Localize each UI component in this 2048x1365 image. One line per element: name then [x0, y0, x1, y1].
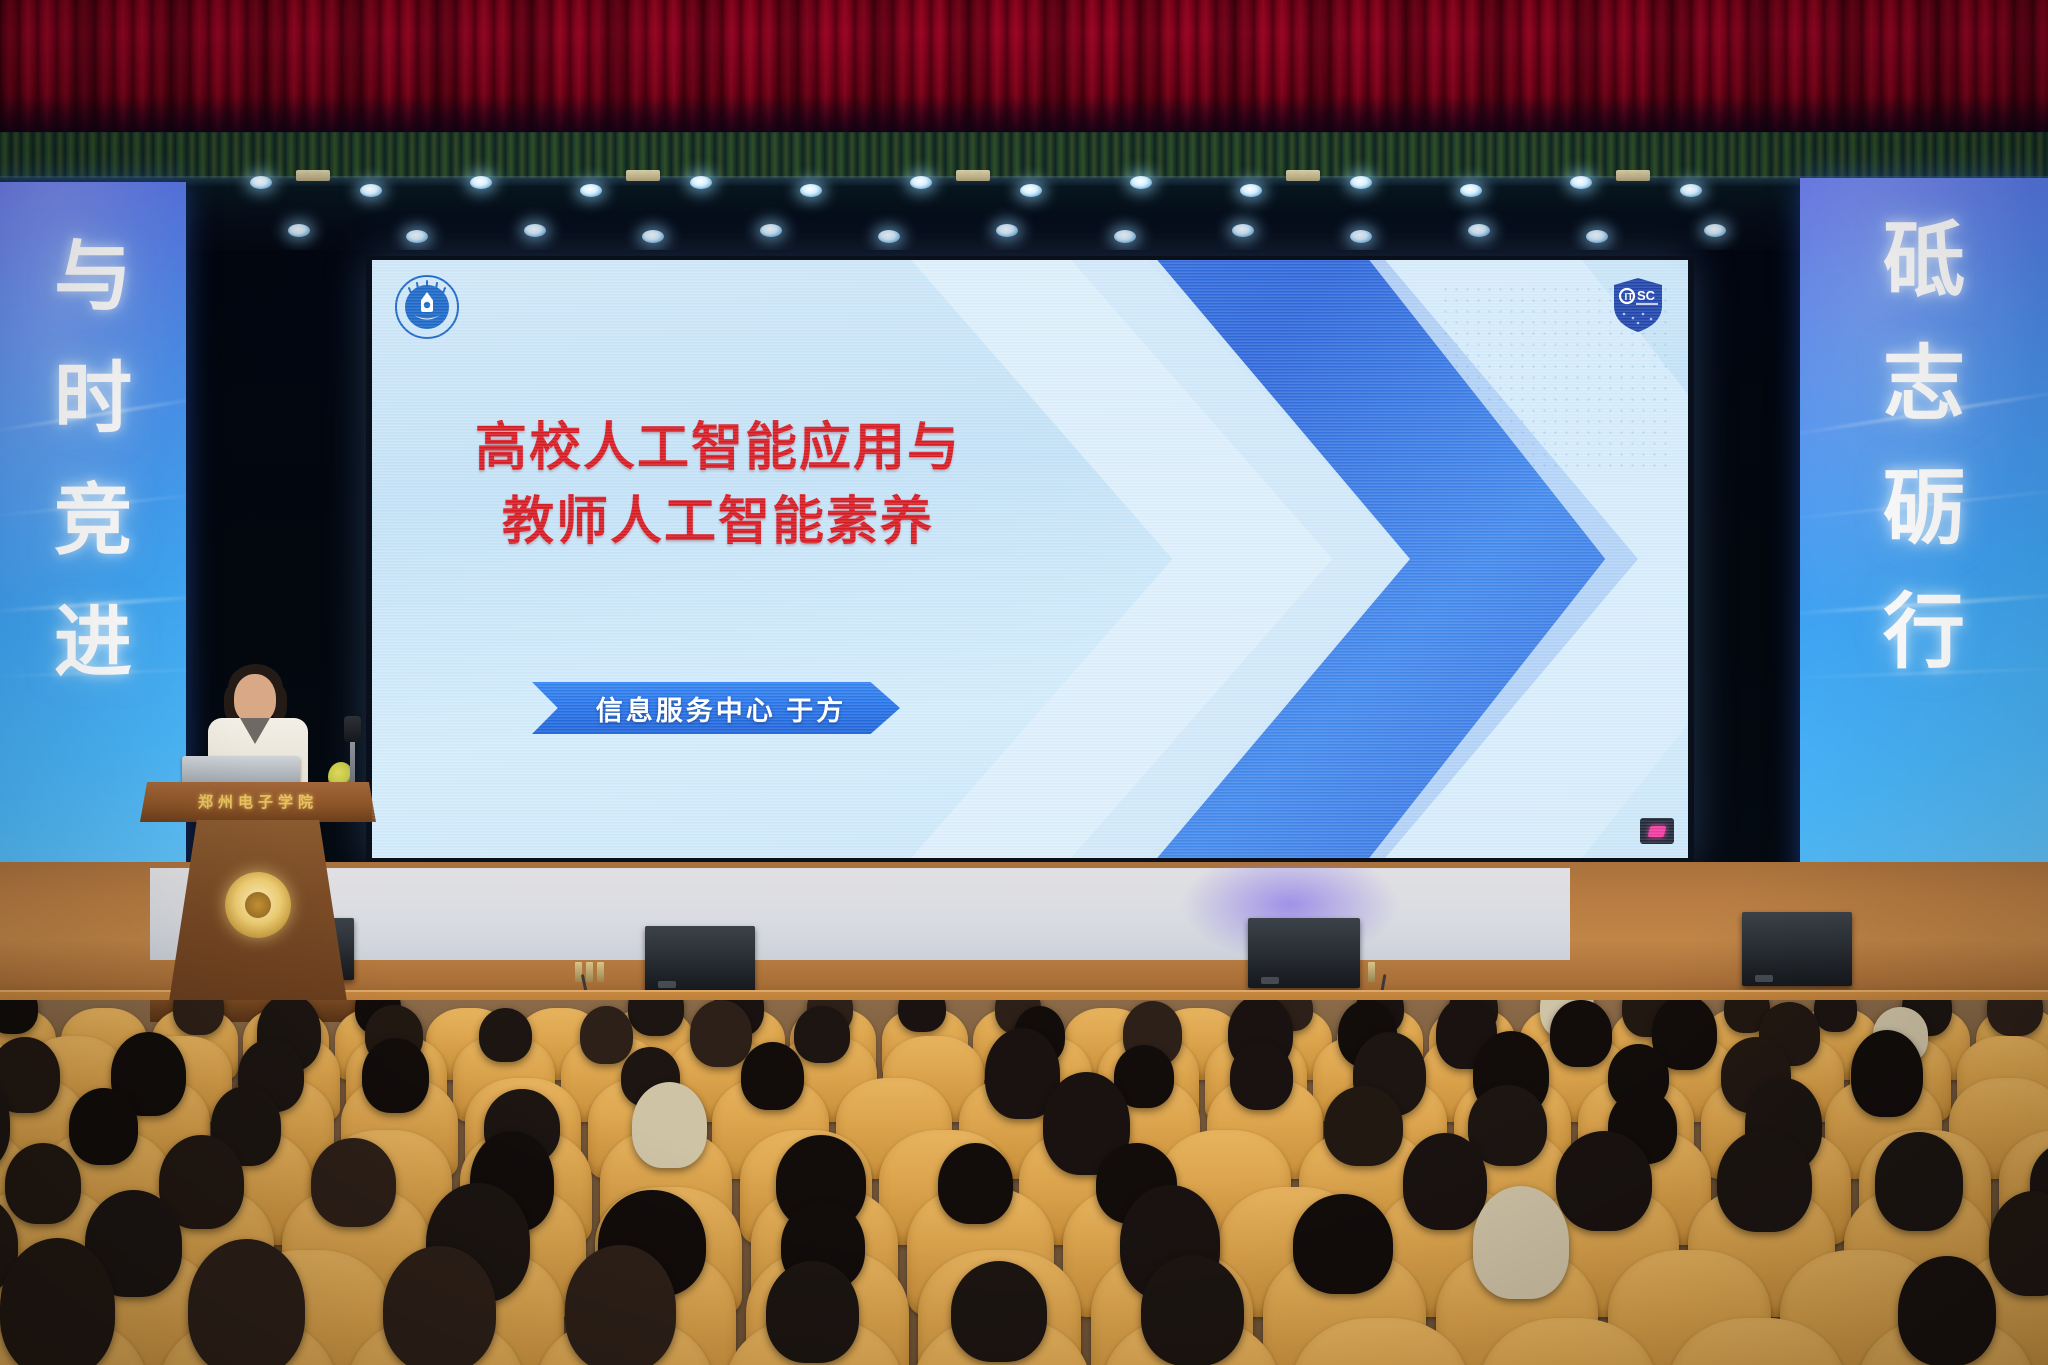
audience-seating-area [0, 1000, 2048, 1365]
stage-lamp-icon [1586, 230, 1608, 243]
slide-presenter-banner: 信息服务中心 于方 [532, 682, 900, 734]
slide-presenter-text: 信息服务中心 于方 [586, 689, 847, 728]
stage-lamp-icon [878, 230, 900, 243]
led-left-char-2: 时 [54, 360, 132, 438]
audience-member [1851, 1030, 1923, 1117]
university-seal-icon [394, 274, 460, 340]
audience-member [1403, 1133, 1487, 1230]
stage-lamp-icon [642, 230, 664, 243]
led-right-char-3: 砺 [1883, 468, 1965, 550]
stage-lamp-icon [1232, 224, 1254, 237]
floor-microphone-cluster [1368, 962, 1375, 982]
lamp-housing [1286, 170, 1320, 181]
audience-member [1814, 1000, 1857, 1032]
stage-lamp-icon [1460, 184, 1482, 197]
audience-member [311, 1138, 396, 1227]
audience-member [1717, 1130, 1811, 1233]
stage-lamp-icon [288, 224, 310, 237]
itsc-shield-icon: IT SC [1612, 276, 1664, 334]
led-left-char-4: 进 [54, 604, 132, 682]
stage-lamp-icon [1240, 184, 1262, 197]
svg-text:IT: IT [1625, 292, 1634, 303]
presenter-laptop [182, 756, 300, 786]
audience-member [1898, 1256, 1996, 1365]
lamp-housing [296, 170, 330, 181]
stage-lamp-icon [1350, 176, 1372, 189]
lectern-group: 郑州电子学院 [140, 700, 400, 1030]
audience-member [1875, 1132, 1962, 1230]
stage-lamp-icon [1680, 184, 1702, 197]
lamp-housing [1616, 170, 1650, 181]
audience-member [0, 1238, 115, 1365]
stage-lamp-icon [470, 176, 492, 189]
pink-watermark-icon [1640, 818, 1674, 844]
audience-member [1141, 1255, 1244, 1365]
slide-title-line-1: 高校人工智能应用与 [428, 412, 1008, 486]
stage-lamp-icon [1350, 230, 1372, 243]
audience-member-with-cap [632, 1082, 707, 1168]
stage-monitor-speaker [1742, 912, 1852, 986]
stage-lamp-icon [250, 176, 272, 189]
audience-member [1989, 1191, 2048, 1296]
stage-lamp-icon [1468, 224, 1490, 237]
svg-text:SC: SC [1637, 288, 1656, 303]
floor-microphone-cluster [575, 962, 604, 982]
stage-lamp-icon [406, 230, 428, 243]
stage-lamp-icon [1020, 184, 1042, 197]
lectern-gold-text: 郑州电子学院 [140, 791, 376, 812]
audience-member-with-cap [1473, 1186, 1570, 1299]
audience-member [188, 1239, 305, 1365]
led-left-char-3: 竞 [54, 482, 132, 560]
audience-member [1324, 1086, 1403, 1166]
audience-member [69, 1088, 138, 1165]
led-left-char-1: 与 [54, 238, 132, 316]
stage-monitor-speaker [645, 926, 755, 992]
audience-member [565, 1245, 675, 1365]
stage-lamp-icon [1114, 230, 1136, 243]
auditorium-scene: 与 时 竞 进 砥 志 砺 行 [0, 0, 2048, 1365]
lectern-top: 郑州电子学院 [140, 782, 376, 822]
lectern-emblem-icon [225, 872, 291, 938]
stage-lamp-icon [1130, 176, 1152, 189]
presenter-head [234, 674, 276, 724]
led-panel-right: 砥 志 砺 行 [1800, 178, 2048, 884]
audience-member [690, 1000, 753, 1067]
audience-member [794, 1006, 850, 1063]
slide-title-line-2: 教师人工智能素养 [428, 486, 1008, 560]
audience-member [479, 1008, 532, 1063]
audience-member [951, 1261, 1047, 1362]
lamp-housing [626, 170, 660, 181]
lamp-housing [956, 170, 990, 181]
presentation-slide: IT SC 高校人工智能应用与 教师人工智能素养 信息服务中心 于方 [372, 260, 1688, 858]
stage-lamp-icon [1570, 176, 1592, 189]
stage-lamp-icon [760, 224, 782, 237]
stage-lamp-icon [360, 184, 382, 197]
stage-monitor-speaker [1248, 918, 1360, 988]
audience-member [383, 1246, 495, 1365]
audience-member [0, 1037, 60, 1113]
stage-curtain [0, 0, 2048, 150]
led-right-char-4: 行 [1883, 592, 1965, 674]
audience-member [1550, 1000, 1611, 1067]
stage-lamp-icon [800, 184, 822, 197]
lectern-body [168, 820, 348, 1008]
audience-member [580, 1006, 632, 1064]
stage-lamp-icon [1704, 224, 1726, 237]
microphone-icon [344, 716, 361, 742]
stage-lighting-rig [0, 132, 2048, 260]
stage-lamp-icon [524, 224, 546, 237]
led-panel-right-text: 砥 志 砺 行 [1800, 220, 2048, 674]
led-right-char-1: 砥 [1883, 220, 1965, 302]
audience-member [1293, 1194, 1393, 1294]
audience-member [1556, 1131, 1652, 1231]
stage-lamp-icon [996, 224, 1018, 237]
led-panel-left-text: 与 时 竞 进 [0, 238, 186, 682]
audience-member [5, 1143, 81, 1225]
led-right-char-2: 志 [1883, 344, 1965, 426]
audience-member [938, 1143, 1013, 1225]
audience-member [362, 1038, 429, 1113]
audience-member [766, 1261, 858, 1363]
stage-lamp-icon [580, 184, 602, 197]
stage-lamp-icon [910, 176, 932, 189]
audience-member [1230, 1042, 1293, 1110]
slide-title: 高校人工智能应用与 教师人工智能素养 [428, 412, 1008, 560]
presentation-screen-frame: IT SC 高校人工智能应用与 教师人工智能素养 信息服务中心 于方 [366, 256, 1694, 862]
audience-member [741, 1042, 805, 1110]
stage-lamp-icon [690, 176, 712, 189]
